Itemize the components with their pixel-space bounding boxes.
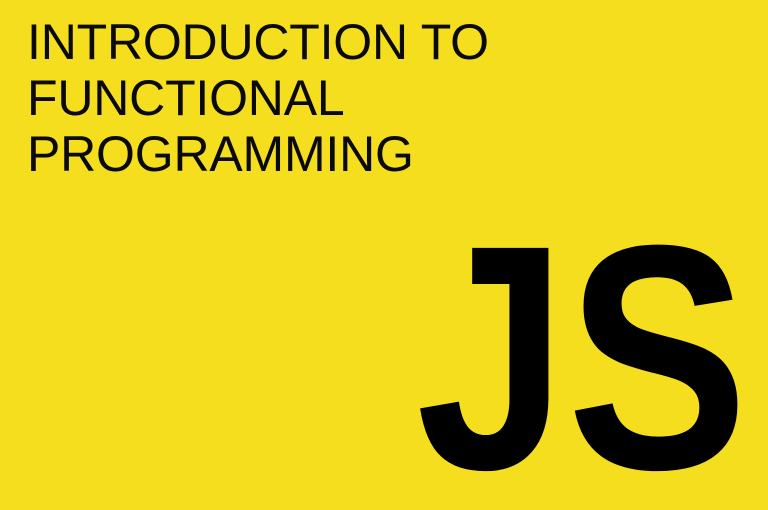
page-title: INTRODUCTION TO FUNCTIONAL PROGRAMMING — [27, 14, 627, 182]
title-line-2: FUNCTIONAL — [27, 70, 627, 126]
slide-canvas: INTRODUCTION TO FUNCTIONAL PROGRAMMING J… — [0, 0, 768, 510]
javascript-logo-text: JS — [416, 196, 748, 486]
title-line-3: PROGRAMMING — [27, 126, 627, 182]
javascript-logo: JS — [416, 196, 756, 486]
javascript-logo-icon: JS — [416, 196, 756, 486]
title-line-1: INTRODUCTION TO — [27, 14, 627, 70]
